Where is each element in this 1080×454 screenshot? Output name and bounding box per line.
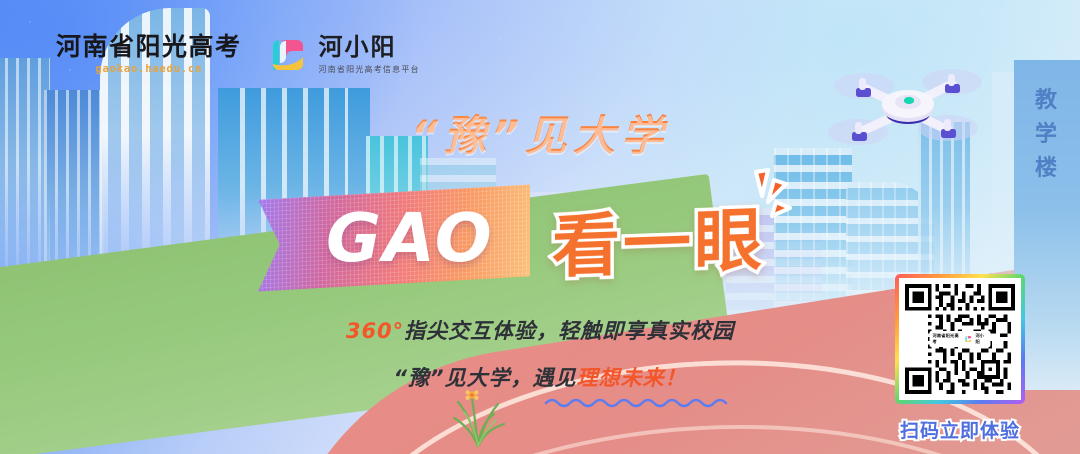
hexiaoyang-book-icon (268, 35, 308, 75)
brand-logo-name: 河南省阳光高考 (56, 34, 242, 59)
subtitle-2-lead: “豫”见大学，遇见 (393, 366, 576, 390)
brand-logo-url: gaokao.haedu.cn (56, 63, 242, 75)
promo-banner: 教学楼 河南省阳光高考 (0, 0, 1080, 454)
brand-logo[interactable]: 河南省阳光高考 gaokao.haedu.cn (56, 34, 242, 75)
logo-row: 河南省阳光高考 gaokao.haedu.cn 河小阳 河南省阳光高考信息平台 (56, 34, 420, 75)
subtitle-1-rest: 指尖交互体验，轻触即享真实校园 (404, 319, 734, 343)
qr-center-book-icon (965, 335, 973, 343)
qr-center-brand: 河南省阳光高考 (933, 333, 962, 345)
subtitle-2-highlight: 理想未来！ (577, 366, 687, 390)
grass-tuft-icon (432, 384, 524, 448)
secondary-logo-name: 河小阳 (319, 35, 420, 59)
qr-rainbow-frame: 河南省阳光高考 河小阳 (895, 274, 1025, 404)
page-title: “豫”见大学 (0, 102, 1080, 163)
secondary-logo[interactable]: 河小阳 河南省阳光高考信息平台 (268, 35, 420, 75)
gao-text: GAO (326, 199, 494, 277)
qr-center-logo-name: 河小阳 (975, 333, 987, 345)
qr-block[interactable]: 河南省阳光高考 河小阳 扫码立即体验 (895, 274, 1025, 443)
qr-caption: 扫码立即体验 (895, 416, 1025, 443)
gao-lockup: GAO 看一眼 (258, 188, 765, 287)
gao-flag-banner: GAO (258, 184, 530, 291)
wavy-underline-icon (544, 396, 744, 408)
orange-rays-icon (722, 168, 794, 228)
secondary-logo-subtitle: 河南省阳光高考信息平台 (319, 64, 420, 75)
qr-center-logo: 河南省阳光高考 河小阳 (930, 331, 991, 347)
subtitle-1-highlight: 360° (346, 319, 404, 343)
qr-code-icon[interactable]: 河南省阳光高考 河小阳 (899, 278, 1021, 400)
